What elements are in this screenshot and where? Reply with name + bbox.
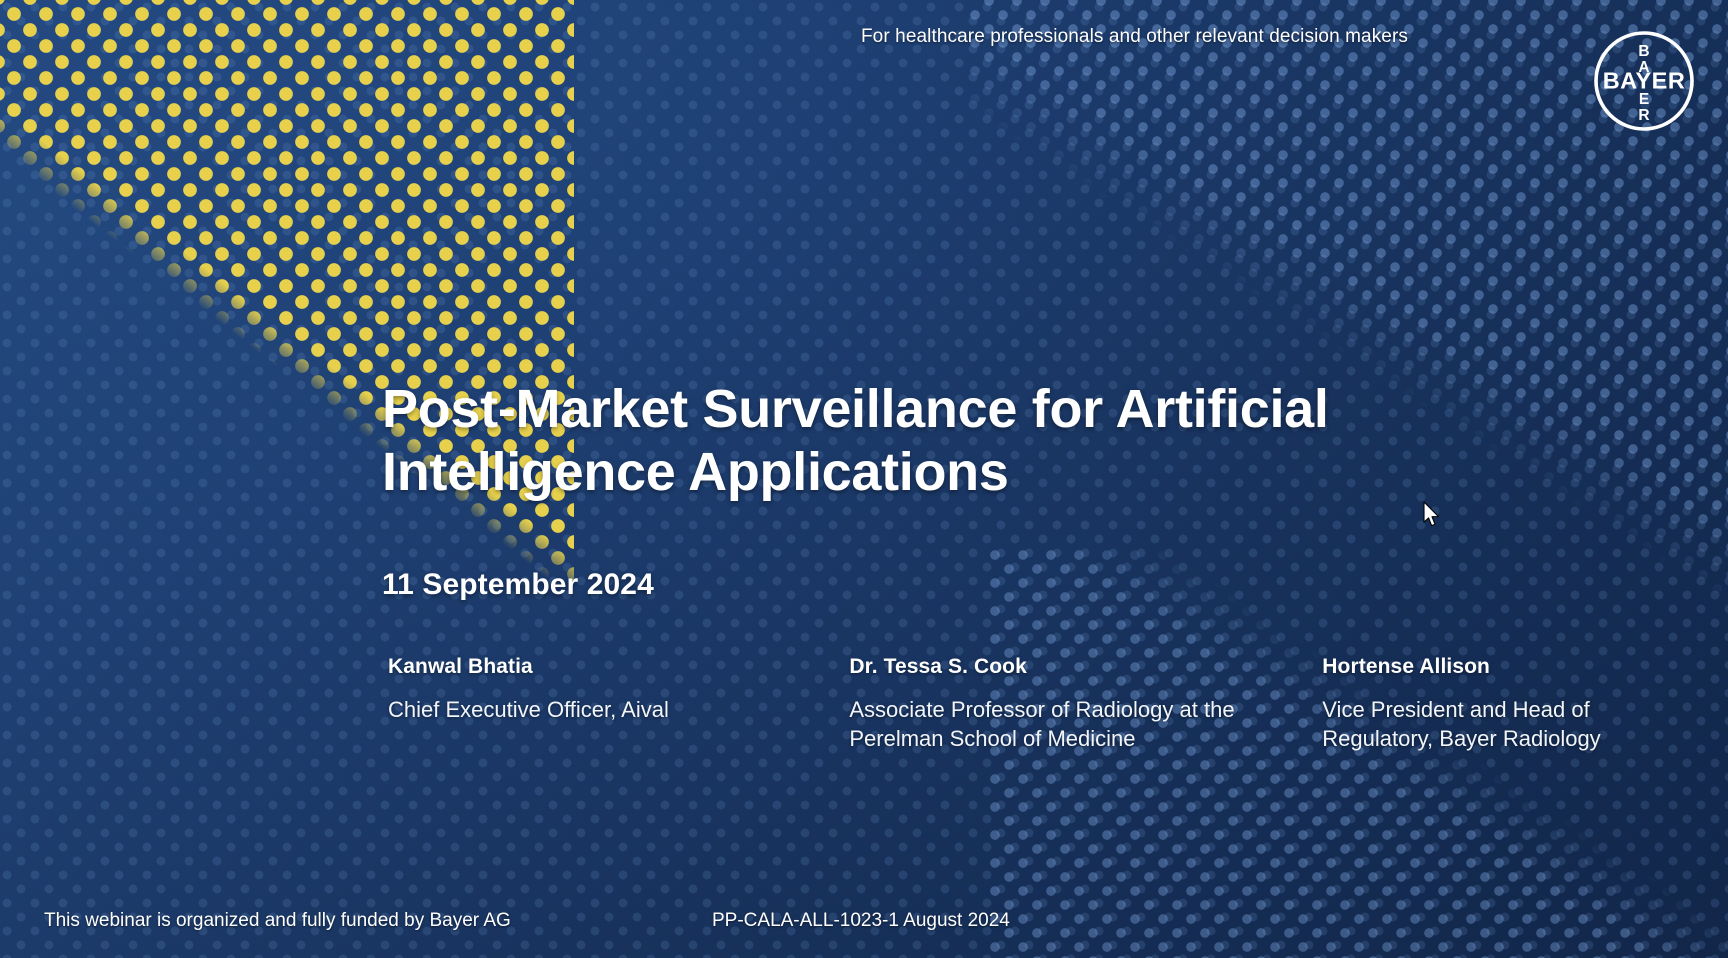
audience-disclaimer: For healthcare professionals and other r… (861, 26, 1408, 48)
speaker-role: Chief Executive Officer, Aival (386, 696, 789, 725)
speaker-role: Vice President and Head of Regulatory, B… (1322, 696, 1668, 753)
speaker-name: Dr. Tessa S. Cook (849, 655, 1262, 679)
speaker-name: Kanwal Bhatia (386, 655, 789, 679)
title-block: Post-Market Surveillance for Artificial … (382, 378, 1462, 602)
speaker-role: Associate Professor of Radiology at the … (849, 696, 1262, 753)
svg-text:A: A (1638, 59, 1649, 76)
speaker-card: Dr. Tessa S. Cook Associate Professor of… (849, 655, 1262, 753)
sponsor-statement: This webinar is organized and fully fund… (44, 910, 511, 932)
event-date: 11 September 2024 (382, 568, 1462, 602)
svg-text:B: B (1638, 43, 1649, 60)
svg-text:R: R (1638, 107, 1649, 124)
speaker-name: Hortense Allison (1322, 655, 1668, 679)
presentation-slide: For healthcare professionals and other r… (0, 0, 1728, 958)
bayer-cross-logo: BAYER B A E R (1592, 29, 1696, 133)
speaker-card: Hortense Allison Vice President and Head… (1322, 655, 1668, 753)
slide-footer: This webinar is organized and fully fund… (0, 910, 1728, 940)
speaker-card: Kanwal Bhatia Chief Executive Officer, A… (386, 655, 789, 753)
page-title: Post-Market Surveillance for Artificial … (382, 378, 1462, 504)
approval-code: PP-CALA-ALL-1023-1 August 2024 (712, 910, 1010, 932)
svg-text:E: E (1639, 91, 1649, 108)
speaker-list: Kanwal Bhatia Chief Executive Officer, A… (386, 655, 1668, 753)
